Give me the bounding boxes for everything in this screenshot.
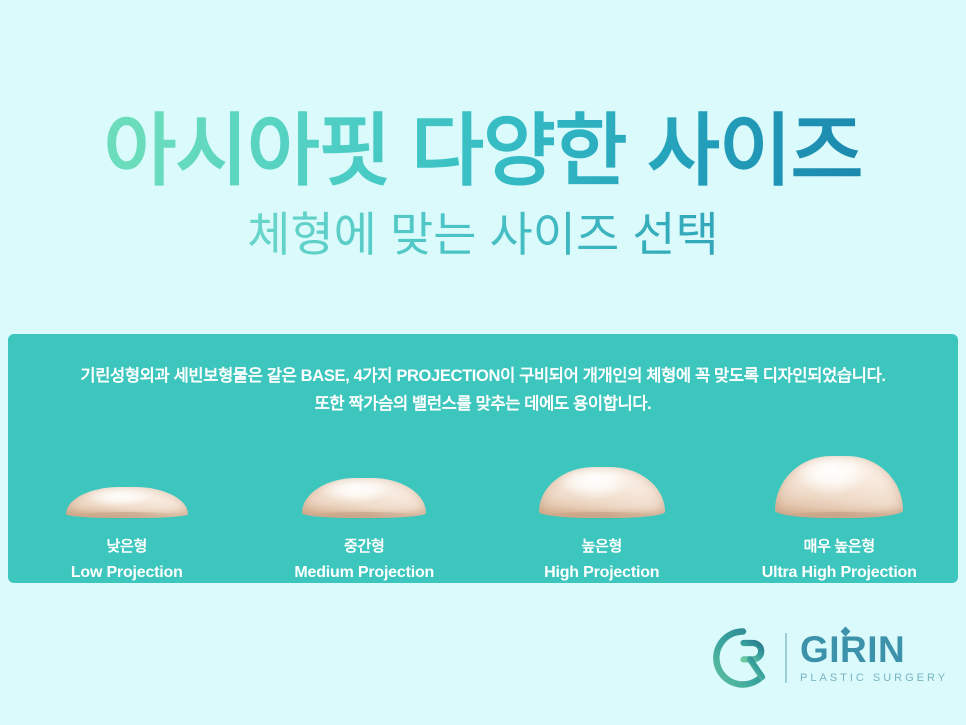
page-title: 아시아핏 다양한 사이즈 xyxy=(0,104,966,198)
logo-divider xyxy=(785,633,787,683)
implant-label-ko: 매우 높은형 xyxy=(804,537,875,557)
panel-description: 기린성형외과 세빈보형물은 같은 BASE, 4가지 PROJECTION이 구… xyxy=(8,362,958,418)
page-subtitle: 체형에 맞는 사이즈 선택 xyxy=(0,204,966,266)
implant-item-low: 낮은형 Low Projection xyxy=(8,438,246,583)
implant-label-en: Ultra High Projection xyxy=(762,562,917,583)
info-panel: 기린성형외과 세빈보형물은 같은 BASE, 4가지 PROJECTION이 구… xyxy=(8,334,958,583)
implant-label-en: High Projection xyxy=(544,562,659,583)
implant-list: 낮은형 Low Projection 중간형 Medium Projection… xyxy=(8,438,958,583)
implant-dome-low-icon xyxy=(52,438,202,518)
logo-wordmark: GIRIN xyxy=(800,629,905,670)
header-section: 아시아핏 다양한 사이즈 체형에 맞는 사이즈 선택 xyxy=(0,0,966,334)
panel-description-line-2: 또한 짝가슴의 밸런스를 맞추는 데에도 용이합니다. xyxy=(8,390,958,418)
logo-wordmark-wrapper: GIRIN xyxy=(800,631,948,669)
implant-label-en: Low Projection xyxy=(71,562,183,583)
implant-dome-high-icon xyxy=(527,438,677,518)
implant-item-ultra-high: 매우 높은형 Ultra High Projection xyxy=(721,438,959,583)
implant-label-ko: 중간형 xyxy=(344,537,385,557)
implant-item-medium: 중간형 Medium Projection xyxy=(246,438,484,583)
brand-logo: GIRIN PLASTIC SURGERY xyxy=(712,622,930,694)
logo-tagline: PLASTIC SURGERY xyxy=(800,672,948,685)
logo-text-block: GIRIN PLASTIC SURGERY xyxy=(800,631,948,685)
implant-dome-medium-icon xyxy=(289,438,439,518)
implant-label-en: Medium Projection xyxy=(294,562,434,583)
implant-dome-ultra-icon xyxy=(764,438,914,518)
page-root: 아시아핏 다양한 사이즈 체형에 맞는 사이즈 선택 기린성형외과 세빈보형물은… xyxy=(0,0,966,725)
gr-monogram-icon xyxy=(712,627,774,689)
implant-label-ko: 낮은형 xyxy=(106,537,147,557)
implant-item-high: 높은형 High Projection xyxy=(483,438,721,583)
panel-description-line-1: 기린성형외과 세빈보형물은 같은 BASE, 4가지 PROJECTION이 구… xyxy=(8,362,958,390)
implant-label-ko: 높은형 xyxy=(581,537,622,557)
